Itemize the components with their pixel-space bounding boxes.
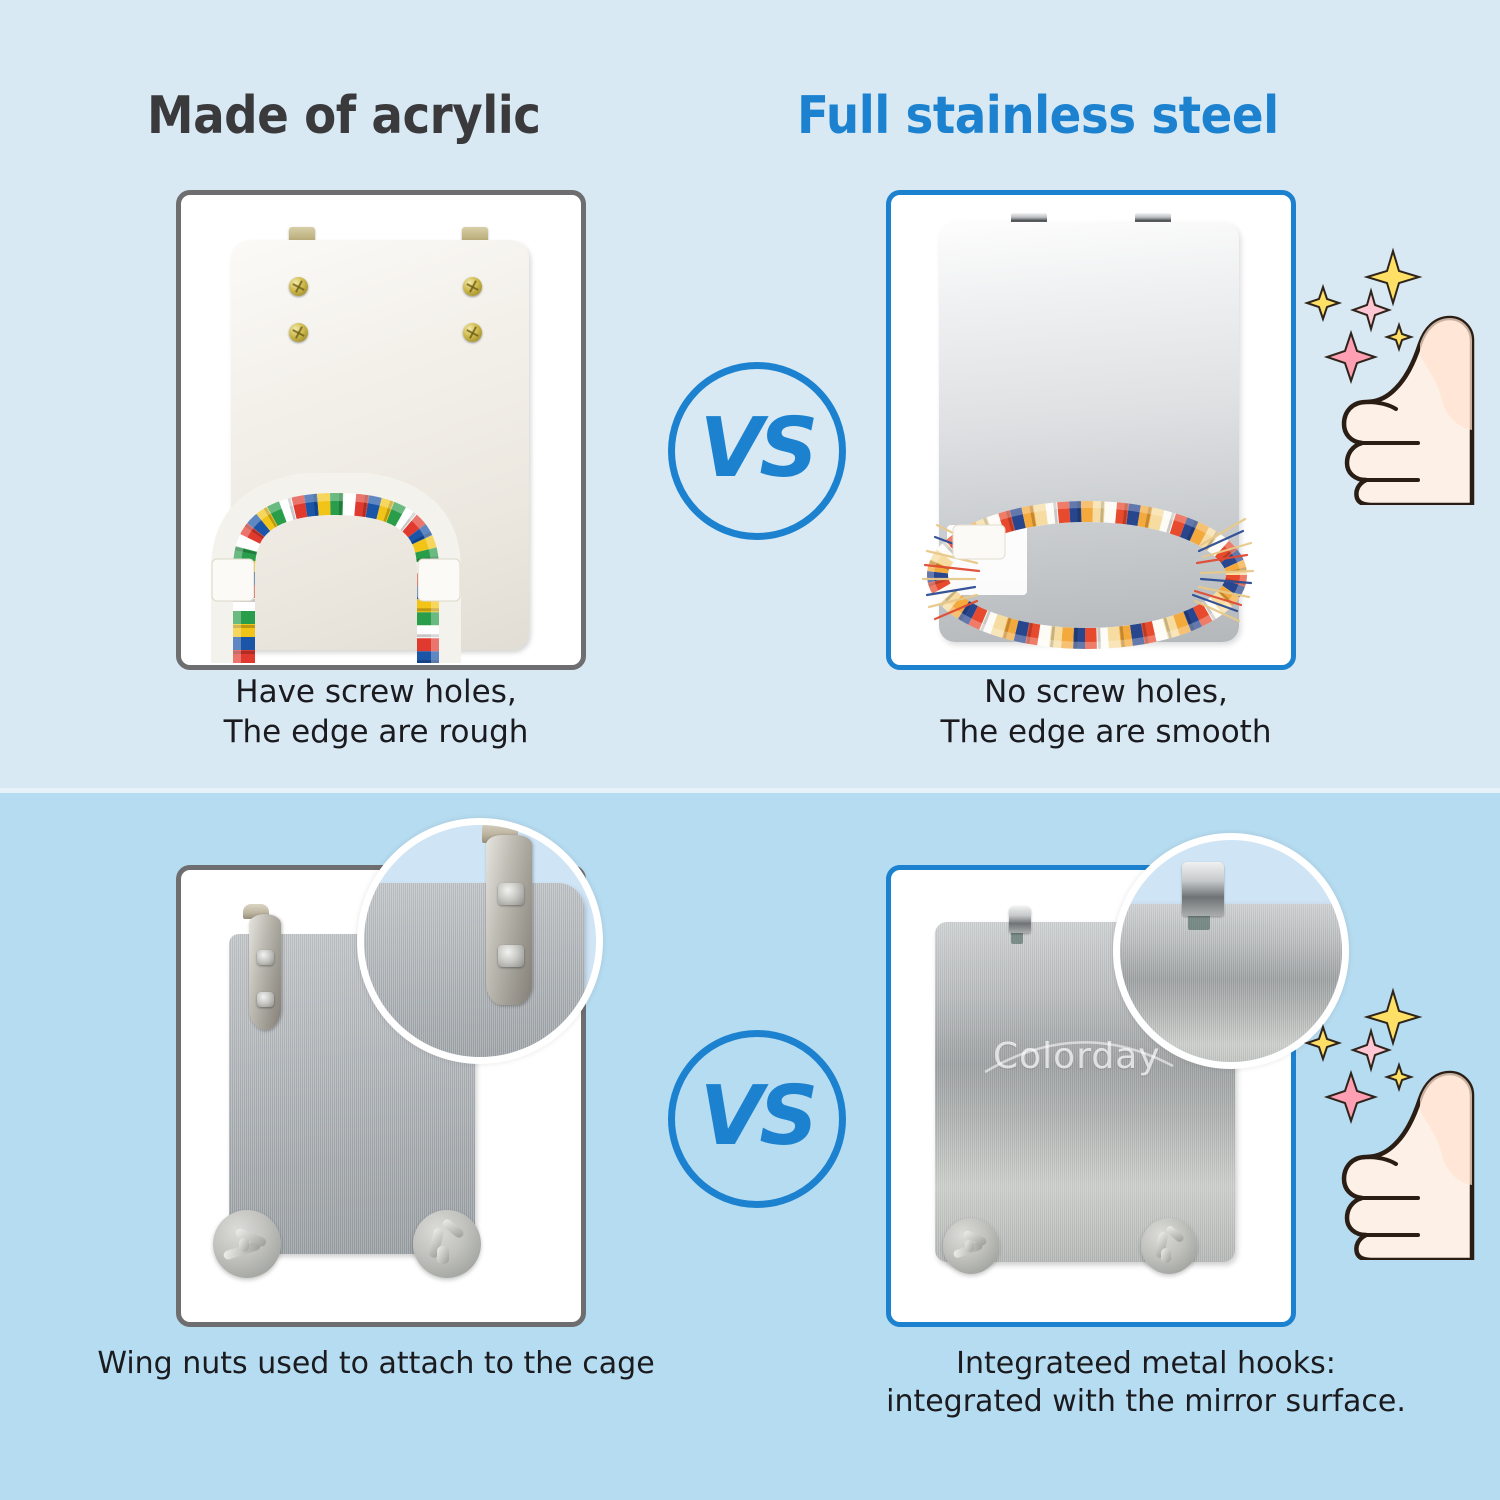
vs-badge-top: VS <box>668 362 846 540</box>
vs-label: VS <box>675 1037 839 1201</box>
magnified-nut-icon <box>498 883 524 905</box>
comparison-infographic: Made of acrylic Full stainless steel <box>0 0 1500 1500</box>
gold-screw-icon <box>289 277 308 296</box>
clip-hook-left-icon <box>1009 906 1031 933</box>
wing-nut-right-icon <box>413 1210 481 1278</box>
magnifier-bottom-left <box>357 818 603 1064</box>
vs-label: VS <box>675 369 839 533</box>
caption-top-right: No screw holes, The edge are smooth <box>866 673 1346 752</box>
photo-top-right <box>886 190 1296 670</box>
gold-screw-icon <box>463 323 482 342</box>
gold-screw-icon <box>463 277 482 296</box>
magnified-panel-surface <box>357 883 584 1064</box>
braided-rope-perch <box>209 473 463 663</box>
wing-nut-left-icon <box>213 1210 281 1278</box>
caption-bottom-right: Integrateed metal hooks: integrated with… <box>846 1345 1446 1422</box>
magnified-bolted-hook-icon <box>486 835 532 1005</box>
wing-nut-left-icon <box>943 1218 999 1274</box>
caption-bottom-left: Wing nuts used to attach to the cage <box>66 1345 686 1383</box>
caption-top-left: Have screw holes, The edge are rough <box>136 673 616 752</box>
thumbs-up-bottom-icon <box>1322 1065 1497 1260</box>
vs-badge-bottom: VS <box>668 1030 846 1208</box>
magnified-clip-hook-icon <box>1182 862 1224 916</box>
photo-top-left <box>176 190 586 670</box>
bolted-hook-icon <box>249 914 281 1030</box>
wing-nut-right-icon <box>1141 1218 1197 1274</box>
magnified-nut-icon <box>498 945 524 967</box>
heading-left: Made of acrylic <box>147 86 541 146</box>
heading-right: Full stainless steel <box>797 86 1279 146</box>
hook-nut-icon <box>257 950 274 965</box>
braided-rope-ring <box>901 485 1273 660</box>
hook-nut-icon <box>257 992 274 1007</box>
thumbs-up-top-icon <box>1322 310 1497 505</box>
gold-screw-icon <box>289 323 308 342</box>
